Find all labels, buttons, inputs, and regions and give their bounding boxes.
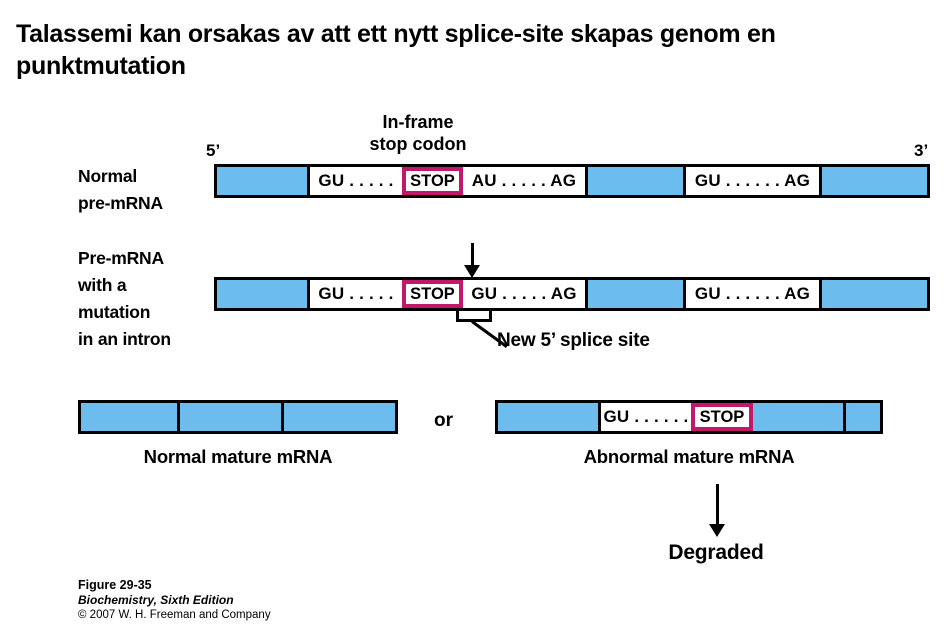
row-label-line2: with a <box>78 272 228 299</box>
row-label-line4: in an intron <box>78 326 228 353</box>
three-prime-label: 3’ <box>914 141 928 161</box>
segment-exon-2 <box>177 403 281 431</box>
new-splice-site-label: New 5’ splice site <box>497 330 650 352</box>
row-label-mutant-pre-mrna: Pre-mRNA with a mutation in an intron <box>78 245 228 354</box>
pre-mrna-mutant-bar: GU . . . . . STOP GU . . . . . AG GU . .… <box>214 277 930 311</box>
segment-exon-3 <box>819 167 927 195</box>
row-label-line1: Normal <box>78 163 218 190</box>
segment-exon-1 <box>81 403 177 431</box>
five-prime-label: 5’ <box>206 141 220 161</box>
segment-exon-2 <box>585 280 683 308</box>
segment-exon-2 <box>585 167 683 195</box>
segment-exon-1 <box>498 403 598 431</box>
segment-exon-1 <box>217 280 307 308</box>
segment-intron-gu-ag-2: GU . . . . . . AG <box>683 280 819 308</box>
row-label-normal-pre-mrna: Normal pre-mRNA <box>78 163 218 217</box>
abnormal-mature-mrna-bar: GU . . . . . . STOP <box>495 400 883 434</box>
segment-intron-gu-ag-2: GU . . . . . . AG <box>683 167 819 195</box>
segment-intron-new-gu-ag: GU . . . . . AG <box>463 280 585 308</box>
row-label-line1: Pre-mRNA <box>78 245 228 272</box>
segment-exon-3 <box>281 403 395 431</box>
segment-stop-codon: STOP <box>691 403 753 431</box>
normal-mature-mrna-caption: Normal mature mRNA <box>78 446 398 468</box>
figure-number: Figure 29-35 <box>78 578 271 592</box>
pre-mrna-normal-bar: GU . . . . . STOP AU . . . . . AG GU . .… <box>214 164 930 198</box>
in-frame-stop-codon-callout: In-frame stop codon <box>318 112 518 155</box>
segment-exon-1 <box>217 167 307 195</box>
degraded-label: Degraded <box>616 541 816 565</box>
or-separator-label: or <box>434 410 453 432</box>
segment-exon-3 <box>819 280 927 308</box>
segment-intron-gu-1: GU . . . . . <box>307 167 402 195</box>
segment-stop-codon-1: STOP <box>402 167 463 195</box>
in-frame-stop-codon-line2: stop codon <box>318 134 518 156</box>
figure-footer: Figure 29-35 Biochemistry, Sixth Edition… <box>78 578 271 621</box>
segment-exon-2 <box>753 403 843 431</box>
figure-book-title: Biochemistry, Sixth Edition <box>78 593 271 607</box>
abnormal-mature-mrna-caption: Abnormal mature mRNA <box>495 446 883 468</box>
figure-copyright: © 2007 W. H. Freeman and Company <box>78 609 271 621</box>
segment-intron-au-ag-1: AU . . . . . AG <box>463 167 585 195</box>
segment-stop-codon-1: STOP <box>402 280 463 308</box>
normal-mature-mrna-bar <box>78 400 398 434</box>
row-label-line2: pre-mRNA <box>78 190 218 217</box>
segment-exon-3 <box>843 403 880 431</box>
row-label-line3: mutation <box>78 299 228 326</box>
page-title: Talassemi kan orsakas av att ett nytt sp… <box>16 18 916 82</box>
slide-canvas: Talassemi kan orsakas av att ett nytt sp… <box>0 0 948 638</box>
in-frame-stop-codon-line1: In-frame <box>318 112 518 134</box>
degradation-arrow-head <box>709 524 725 537</box>
segment-retained-intron-gu: GU . . . . . . <box>598 403 691 431</box>
segment-intron-gu-1: GU . . . . . <box>307 280 402 308</box>
